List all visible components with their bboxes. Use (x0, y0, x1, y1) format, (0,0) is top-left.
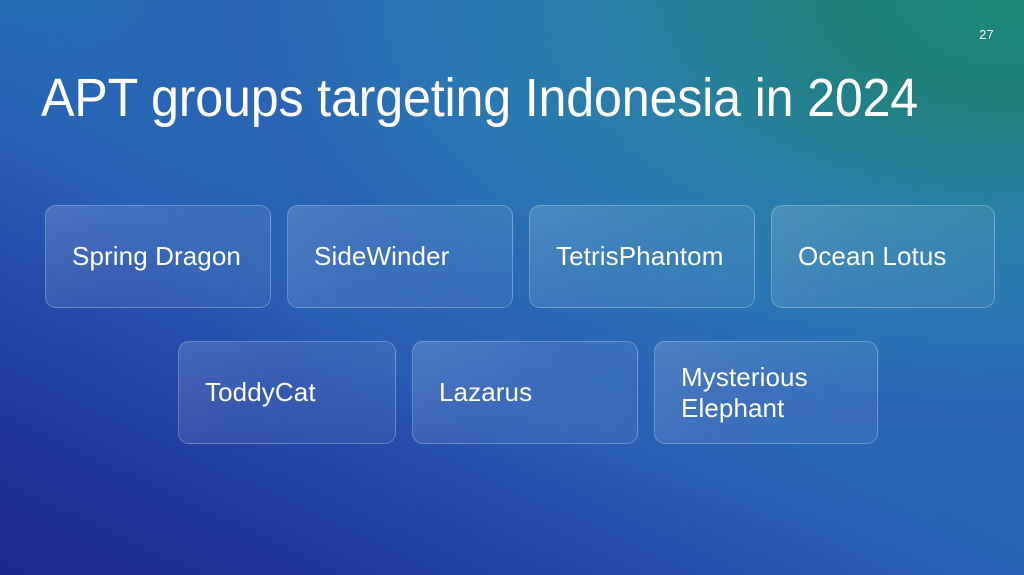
page-number: 27 (979, 28, 994, 41)
apt-group-card-lazarus[interactable]: Lazarus (412, 341, 638, 444)
page-title: APT groups targeting Indonesia in 2024 (41, 68, 918, 128)
apt-group-card-toddycat[interactable]: ToddyCat (178, 341, 396, 444)
apt-group-card-tetrisphantom[interactable]: TetrisPhantom (529, 205, 755, 308)
apt-group-label: SideWinder (314, 241, 449, 272)
apt-group-label: Lazarus (439, 377, 532, 408)
apt-group-row-1: Spring Dragon SideWinder TetrisPhantom O… (45, 205, 995, 308)
apt-group-label: TetrisPhantom (556, 241, 723, 272)
apt-group-card-sidewinder[interactable]: SideWinder (287, 205, 513, 308)
apt-group-row-2: ToddyCat Lazarus Mysterious Elephant (178, 341, 878, 444)
apt-group-label: Mysterious Elephant (681, 362, 808, 423)
apt-group-card-ocean-lotus[interactable]: Ocean Lotus (771, 205, 995, 308)
apt-group-card-spring-dragon[interactable]: Spring Dragon (45, 205, 271, 308)
apt-group-card-mysterious-elephant[interactable]: Mysterious Elephant (654, 341, 878, 444)
apt-group-label: Spring Dragon (72, 241, 241, 272)
apt-group-label: Ocean Lotus (798, 241, 947, 272)
apt-group-label: ToddyCat (205, 377, 316, 408)
slide-canvas: 27 APT groups targeting Indonesia in 202… (0, 0, 1024, 575)
